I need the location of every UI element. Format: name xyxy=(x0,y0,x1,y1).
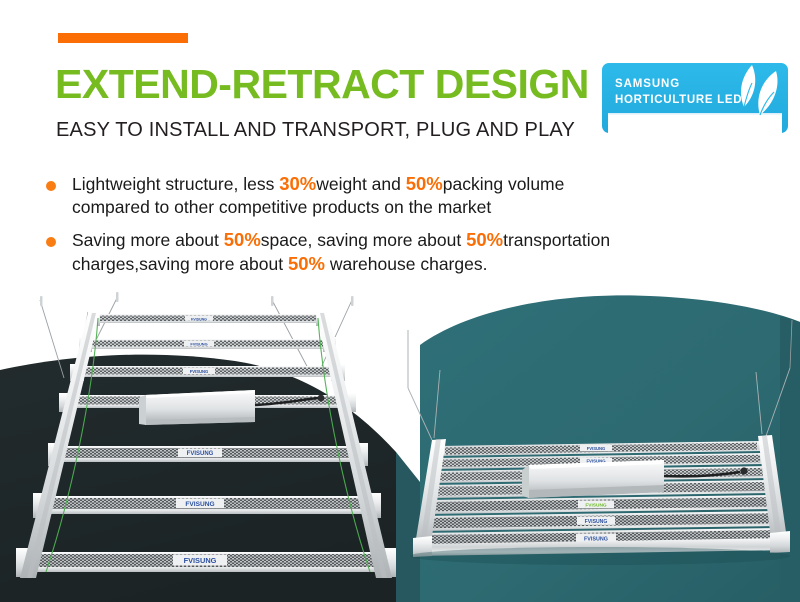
slide-canvas: FVISUNG FVISUNG FVISUNG xyxy=(0,0,800,602)
brand-label: FVISUNG xyxy=(587,446,606,451)
text-run: space, saving more about xyxy=(261,230,466,250)
list-item: Lightweight structure, less 30%weight an… xyxy=(44,172,774,218)
bullet-dot-icon xyxy=(46,237,56,247)
bullet-line: charges,saving more about 50% warehouse … xyxy=(72,254,487,274)
brand-label: FVISUNG xyxy=(585,519,608,525)
accent-bar xyxy=(58,33,188,43)
brand-label: FVISUNG xyxy=(184,556,217,565)
bullet-text: Lightweight structure, less 30%weight an… xyxy=(72,172,774,218)
page-title: EXTEND-RETRACT DESIGN xyxy=(55,64,589,105)
text-run: charges,saving more about xyxy=(72,254,288,274)
badge-line-2: HORTICULTURE LED xyxy=(615,94,742,106)
led-driver-box xyxy=(522,460,664,498)
feature-bullet-list: Lightweight structure, less 30%weight an… xyxy=(44,172,774,285)
bullet-line: Saving more about 50%space, saving more … xyxy=(72,230,610,250)
bullet-text: Saving more about 50%space, saving more … xyxy=(72,228,774,275)
text-run: weight and xyxy=(316,174,406,194)
brand-label: FVISUNG xyxy=(187,451,214,457)
percentage-highlight: 50% xyxy=(406,173,443,194)
cable-connector xyxy=(740,467,747,474)
brand-label: FVISUNG xyxy=(191,317,207,321)
led-driver-box xyxy=(139,390,255,425)
brand-label: FVISUNG xyxy=(185,501,214,508)
text-run: packing volume xyxy=(443,174,565,194)
samsung-horticulture-led-badge: SAMSUNG HORTICULTURE LED xyxy=(600,61,790,135)
list-item: Saving more about 50%space, saving more … xyxy=(44,228,774,275)
percentage-highlight: 30% xyxy=(279,173,316,194)
bullet-line: Lightweight structure, less 30%weight an… xyxy=(72,174,564,194)
page-subtitle: EASY TO INSTALL AND TRANSPORT, PLUG AND … xyxy=(56,119,575,141)
percentage-highlight: 50% xyxy=(466,229,503,250)
brand-label: FVISUNG xyxy=(190,369,209,374)
text-run: transportation xyxy=(503,230,610,250)
text-run: compared to other competitive products o… xyxy=(72,197,491,217)
bullet-line: compared to other competitive products o… xyxy=(72,197,491,217)
text-run: Lightweight structure, less xyxy=(72,174,279,194)
brand-label: FVISUNG xyxy=(190,342,207,347)
badge-line-1: SAMSUNG xyxy=(615,78,680,90)
bullet-dot-icon xyxy=(46,181,56,191)
percentage-highlight: 50% xyxy=(224,229,261,250)
brand-label: FVISUNG xyxy=(585,502,607,508)
text-run: warehouse charges. xyxy=(325,254,487,274)
cable-connector xyxy=(318,395,325,402)
text-run: Saving more about xyxy=(72,230,224,250)
percentage-highlight: 50% xyxy=(288,253,325,274)
